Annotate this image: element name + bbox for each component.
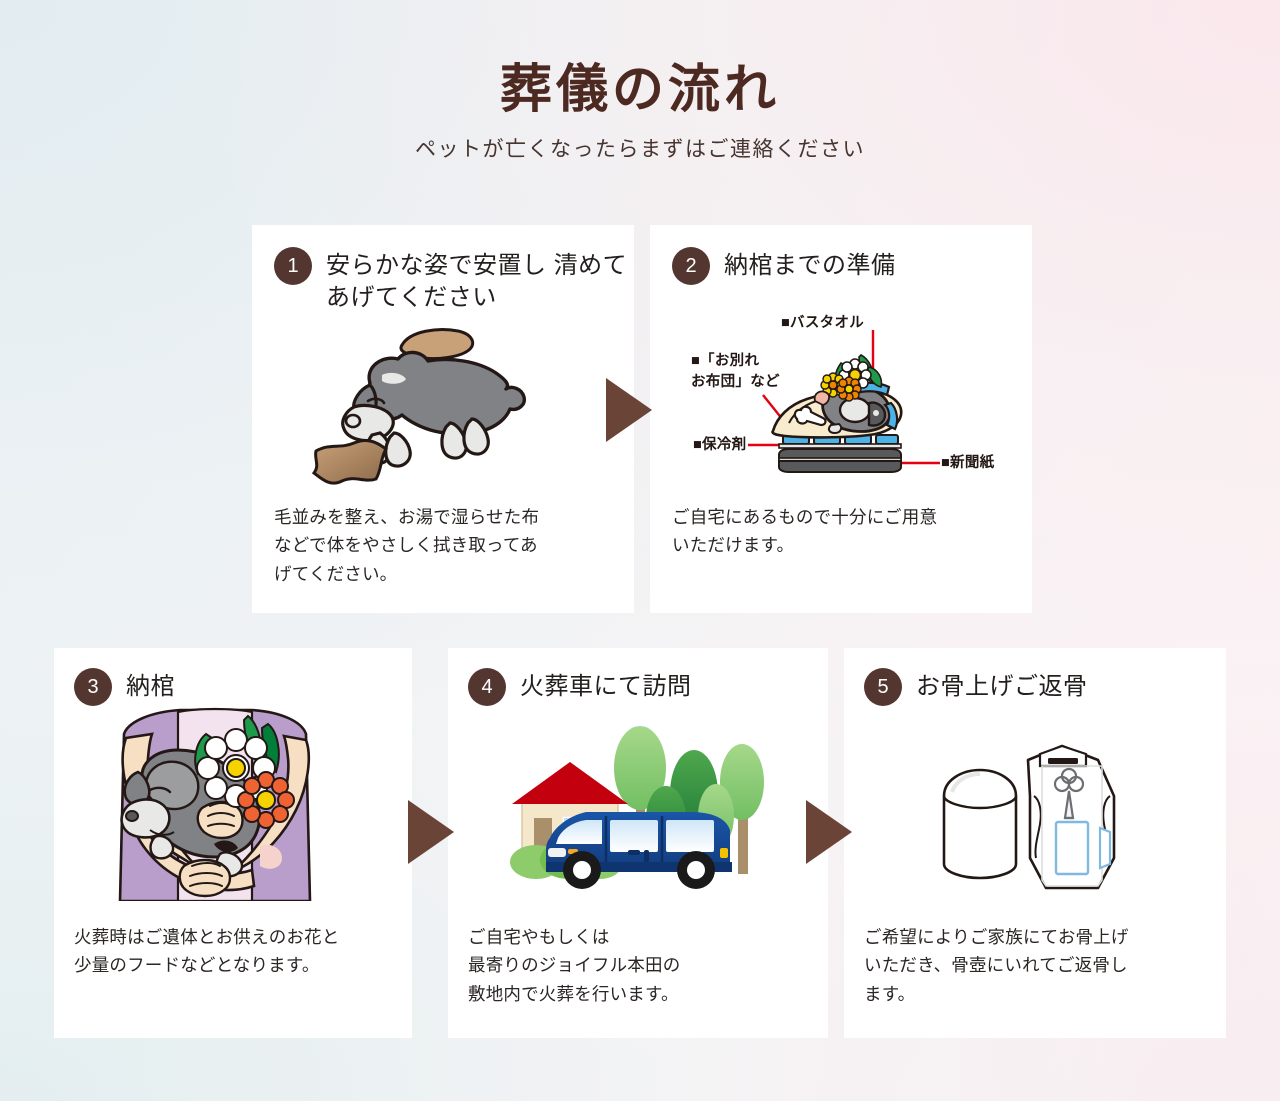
step-5-illustration	[922, 740, 1142, 910]
callout-newspaper: ■新聞紙	[941, 451, 994, 472]
step-1-title: 安らかな姿で安置し 清めてあげてください	[326, 247, 634, 313]
dog-lying-with-brush-and-cloth-icon	[310, 323, 540, 488]
callout-bath-towel: ■バスタオル	[781, 311, 864, 332]
step-number-badge-2: 2	[672, 247, 710, 285]
step-number-badge-3: 3	[74, 668, 112, 706]
step-5-body: ご希望によりご家族にてお骨上げ いただき、骨壺にいれてご返骨し ます。	[864, 923, 1210, 1008]
step-3-header: 3 納棺	[74, 668, 412, 706]
step-number-badge-4: 4	[468, 668, 506, 706]
step-4-header: 4 火葬車にて訪問	[468, 668, 828, 706]
page-subtitle: ペットが亡くなったらまずはご連絡ください	[0, 133, 1280, 163]
step-4-illustration	[476, 710, 776, 910]
step-3-illustration	[102, 706, 332, 906]
step-5-title: お骨上げご返骨	[916, 668, 1088, 703]
step-1-illustration	[310, 323, 540, 493]
step-number-badge-1: 1	[274, 247, 312, 285]
step-5-header: 5 お骨上げご返骨	[864, 668, 1226, 706]
step-1-body: 毛並みを整え、お湯で湿らせた布 などで体をやさしく拭き取ってあ げてください。	[274, 503, 616, 588]
step-3-title: 納棺	[126, 668, 175, 703]
arrow-step4-to-step5	[806, 800, 852, 864]
step-3-body: 火葬時はご遺体とお供えのお花と 少量のフードなどとなります。	[74, 923, 400, 980]
blue-van-house-trees-icon	[476, 710, 776, 905]
step-card-5: 5 お骨上げご返骨	[844, 648, 1226, 1038]
arrow-step1-to-step2	[606, 378, 652, 442]
callout-cooling-agent: ■保冷剤	[693, 433, 746, 454]
arrow-step3-to-step4	[408, 800, 454, 864]
step-card-1: 1 安らかな姿で安置し 清めてあげてください	[252, 225, 634, 613]
step-4-body: ご自宅やもしくは 最寄りのジョイフル本田の 敷地内で火葬を行います。	[468, 923, 812, 1008]
step-4-title: 火葬車にて訪問	[520, 668, 692, 703]
step-1-header: 1 安らかな姿で安置し 清めてあげてください	[274, 247, 634, 313]
step-number-badge-5: 5	[864, 668, 902, 706]
step-card-3: 3 納棺	[54, 648, 412, 1038]
step-2-header: 2 納棺までの準備	[672, 247, 1032, 285]
page-title: 葬儀の流れ	[0, 62, 1280, 119]
urn-and-carry-box-icon	[922, 740, 1142, 905]
person-holding-dog-with-flowers-icon	[102, 706, 332, 901]
callout-farewell-futon: ■「お別れ お布団」など	[691, 351, 780, 393]
step-card-2: 2 納棺までの準備 .cal{font-family:"Liberation S…	[650, 225, 1032, 613]
step-2-body: ご自宅にあるもので十分にご用意 いただけます。	[672, 503, 1014, 560]
step-2-title: 納棺までの準備	[724, 247, 896, 282]
step-card-4: 4 火葬車にて訪問	[448, 648, 828, 1038]
funeral-flow-page: 葬儀の流れ ペットが亡くなったらまずはご連絡ください 1 安らかな姿で安置し 清…	[0, 0, 1280, 1101]
page-header: 葬儀の流れ ペットが亡くなったらまずはご連絡ください	[0, 62, 1280, 163]
